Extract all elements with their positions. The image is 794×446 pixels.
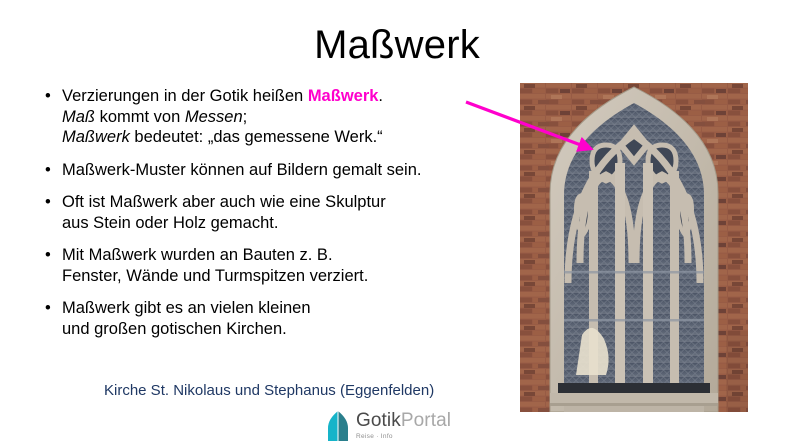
bullet-item: •Maßwerk gibt es an vielen kleinenund gr…: [40, 298, 520, 339]
text-run: Maß: [62, 108, 95, 126]
gothic-arch-icon: [327, 411, 349, 441]
bullet-item: •Oft ist Maßwerk aber auch wie eine Skul…: [40, 192, 520, 233]
text-run: ;: [243, 108, 248, 126]
text-run: Maßwerk: [62, 128, 130, 146]
bullet-marker-icon: •: [45, 86, 51, 107]
text-run: Oft ist Maßwerk aber auch wie eine Skulp…: [62, 193, 386, 211]
logo-subtitle: Reise · Info: [356, 432, 451, 441]
bullet-marker-icon: •: [45, 298, 51, 319]
bullet-line: und großen gotischen Kirchen.: [62, 319, 520, 340]
photo-caption: Kirche St. Nikolaus und Stephanus (Eggen…: [104, 381, 434, 400]
bullet-marker-icon: •: [45, 245, 51, 266]
bullet-item: •Maßwerk-Muster können auf Bildern gemal…: [40, 160, 520, 181]
bullet-item: •Mit Maßwerk wurden an Bauten z. B.Fenst…: [40, 245, 520, 286]
gotikportal-logo[interactable]: GotikPortal Reise · Info: [327, 409, 451, 443]
bullet-item: •Verzierungen in der Gotik heißen Maßwer…: [40, 86, 520, 148]
text-run: Fenster, Wände und Turmspitzen verziert.: [62, 267, 368, 285]
bullet-line: aus Stein oder Holz gemacht.: [62, 213, 520, 234]
logo-wordmark: GotikPortal Reise · Info: [356, 411, 451, 441]
bullet-line: Maßwerk gibt es an vielen kleinen: [62, 298, 520, 319]
photo-gothic-window: [520, 83, 748, 412]
bullet-marker-icon: •: [45, 192, 51, 213]
page-title: Maßwerk: [0, 22, 794, 68]
bullet-line: Verzierungen in der Gotik heißen Maßwerk…: [62, 86, 520, 107]
text-run: kommt von: [95, 108, 185, 126]
bullet-line: Maßwerk-Muster können auf Bildern gemalt…: [62, 160, 520, 181]
text-run: Verzierungen in der Gotik heißen: [62, 87, 308, 105]
text-run: Mit Maßwerk wurden an Bauten z. B.: [62, 246, 333, 264]
highlighted-term: Maßwerk: [308, 87, 379, 105]
text-run: bedeutet: „das gemessene Werk.“: [130, 128, 383, 146]
bullet-marker-icon: •: [45, 160, 51, 181]
bullet-line: Fenster, Wände und Turmspitzen verziert.: [62, 266, 520, 287]
text-run: Maßwerk gibt es an vielen kleinen: [62, 299, 311, 317]
text-run: Messen: [185, 108, 243, 126]
text-run: .: [378, 87, 383, 105]
logo-word-portal: Portal: [401, 410, 451, 431]
logo-word-gotik: Gotik: [356, 410, 401, 431]
bullet-line: Mit Maßwerk wurden an Bauten z. B.: [62, 245, 520, 266]
text-run: aus Stein oder Holz gemacht.: [62, 214, 278, 232]
bullet-line: Oft ist Maßwerk aber auch wie eine Skulp…: [62, 192, 520, 213]
logo-title: GotikPortal: [356, 411, 451, 430]
text-run: und großen gotischen Kirchen.: [62, 320, 287, 338]
bullet-list: •Verzierungen in der Gotik heißen Maßwer…: [40, 86, 520, 339]
bullet-line: Maß kommt von Messen;: [62, 107, 520, 128]
bullet-line: Maßwerk bedeutet: „das gemessene Werk.“: [62, 127, 520, 148]
text-run: Maßwerk-Muster können auf Bildern gemalt…: [62, 161, 422, 179]
slide: Maßwerk •Verzierungen in der Gotik heiße…: [0, 0, 794, 446]
